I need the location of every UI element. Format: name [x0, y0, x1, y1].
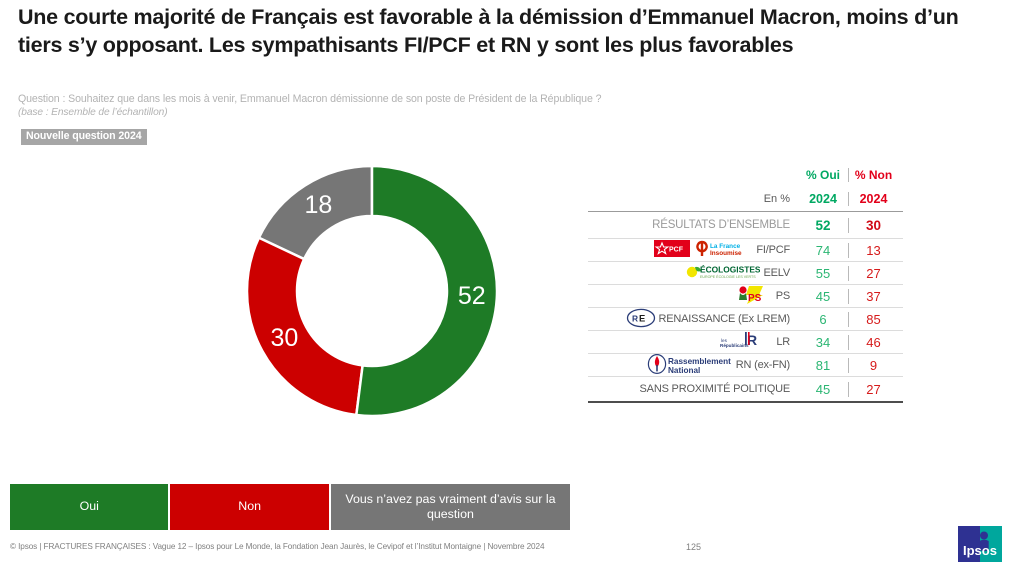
question-text: Question : Souhaitez que dans les mois à… [18, 92, 898, 107]
page-number: 125 [686, 542, 701, 552]
base-text: (base : Ensemble de l’échantillon) [18, 107, 618, 118]
svg-text:EUROPE ÉCOLOGIE LES VERTS: EUROPE ÉCOLOGIE LES VERTS [700, 274, 756, 279]
renaissance-logo: R E [626, 308, 656, 331]
page-title: Une courte majorité de Français est favo… [18, 3, 978, 60]
la-france-insoumise-logo: La France Insoumise [693, 240, 753, 261]
donut-value-oui: 52 [458, 282, 486, 310]
table-row-party-label: LR [776, 336, 790, 348]
table-row-non: 37 [848, 289, 898, 304]
table-row-party-label: RENAISSANCE (Ex LREM) [659, 313, 791, 325]
table-row: R E RENAISSANCE (Ex LREM) 6 85 [588, 307, 903, 330]
svg-text:Rassemblement: Rassemblement [668, 357, 731, 366]
table-year-row: En % 2024 2024 [588, 186, 903, 212]
table-row-oui: 34 [798, 335, 848, 350]
svg-text:La France: La France [710, 243, 741, 250]
table-row-non: 9 [848, 358, 898, 373]
ecologistes-logo: ÉCOLOGISTES EUROPE ÉCOLOGIE LES VERTS [684, 263, 760, 284]
slide-root: Une courte majorité de Français est favo… [0, 0, 1012, 569]
table-total-oui: 52 [798, 218, 848, 233]
table-row-label-cell: SANS PROXIMITÉ POLITIQUE [588, 383, 798, 395]
table-total-label: RÉSULTATS D’ENSEMBLE [588, 219, 798, 231]
table-row: PCF La France Insoumise FI/PCF 74 13 [588, 238, 903, 261]
table-row: les Républicains R LR 34 46 [588, 330, 903, 353]
table-row-oui: 45 [798, 382, 848, 397]
table-row-non: 13 [848, 243, 898, 258]
table-row: Rassemblement National RN (ex-FN) 81 9 [588, 353, 903, 376]
table-total-non: 30 [848, 218, 898, 233]
table-row: ÉCOLOGISTES EUROPE ÉCOLOGIE LES VERTS EE… [588, 261, 903, 284]
table-row-sans-proximite: SANS PROXIMITÉ POLITIQUE 45 27 [588, 376, 903, 403]
table-row-oui: 81 [798, 358, 848, 373]
chart-legend: Oui Non Vous n’avez pas vraiment d’avis … [10, 484, 570, 530]
table-row-party-label: FI/PCF [756, 244, 790, 256]
svg-text:ÉCOLOGISTES: ÉCOLOGISTES [700, 263, 760, 274]
legend-item-sans-avis: Vous n’avez pas vraiment d’avis sur la q… [331, 484, 570, 530]
table-row-oui: 74 [798, 243, 848, 258]
svg-text:Républicains: Républicains [720, 343, 749, 348]
new-question-badge: Nouvelle question 2024 [21, 129, 147, 145]
svg-text:PCF: PCF [669, 247, 684, 254]
donut-slice-non [247, 238, 363, 415]
table-row-oui: 55 [798, 266, 848, 281]
ps-logo: PS [729, 285, 773, 308]
table-year-oui: 2024 [798, 192, 848, 206]
table-header-oui: % Oui [798, 168, 848, 182]
table-row-oui: 6 [798, 312, 848, 327]
table-row-non: 27 [848, 382, 898, 397]
svg-text:Insoumise: Insoumise [710, 250, 742, 257]
table-row-oui: 45 [798, 289, 848, 304]
table-header-non: % Non [848, 168, 898, 182]
donut-chart-svg: 52 30 18 [243, 162, 501, 420]
table-row-party-label: PS [776, 290, 790, 302]
table-year-label: En % [588, 193, 798, 205]
table-row-party-label: EELV [763, 267, 790, 279]
table-row-label-cell: R E RENAISSANCE (Ex LREM) [588, 308, 798, 331]
rassemblement-national-logo: Rassemblement National [647, 353, 733, 378]
les-republicains-logo: les Républicains R [719, 330, 773, 355]
table-row-label-cell: les Républicains R LR [588, 330, 798, 355]
ipsos-logo: Ipsos [958, 526, 1002, 562]
table-row-non: 27 [848, 266, 898, 281]
table-year-non: 2024 [848, 192, 898, 206]
table-row-label-cell: PS PS [588, 285, 798, 308]
table-row: PS PS 45 37 [588, 284, 903, 307]
donut-chart: 52 30 18 [243, 162, 501, 420]
legend-item-non: Non [170, 484, 328, 530]
svg-text:R: R [632, 313, 638, 323]
pcf-logo: PCF [654, 240, 690, 260]
svg-text:National: National [668, 366, 700, 375]
table-row-label-cell: ÉCOLOGISTES EUROPE ÉCOLOGIE LES VERTS EE… [588, 263, 798, 284]
ipsos-logo-text: Ipsos [963, 543, 997, 558]
legend-item-oui: Oui [10, 484, 168, 530]
table-row-party-label: RN (ex-FN) [736, 359, 790, 371]
table-row-total: RÉSULTATS D’ENSEMBLE 52 30 [588, 212, 903, 238]
table-row-label-cell: Rassemblement National RN (ex-FN) [588, 353, 798, 378]
table-row-non: 46 [848, 335, 898, 350]
footer-credit: © Ipsos | FRACTURES FRANÇAISES : Vague 1… [10, 542, 544, 551]
table-row-non: 85 [848, 312, 898, 327]
donut-value-sans-avis: 18 [304, 191, 332, 219]
svg-text:E: E [639, 312, 645, 323]
table-row-label-cell: PCF La France Insoumise FI/PCF [588, 240, 798, 261]
donut-value-non: 30 [270, 324, 298, 352]
svg-text:PS: PS [748, 293, 762, 304]
table-header-row: % Oui % Non [588, 164, 903, 186]
results-table: % Oui % Non En % 2024 2024 RÉSULTATS D’E… [588, 164, 903, 403]
